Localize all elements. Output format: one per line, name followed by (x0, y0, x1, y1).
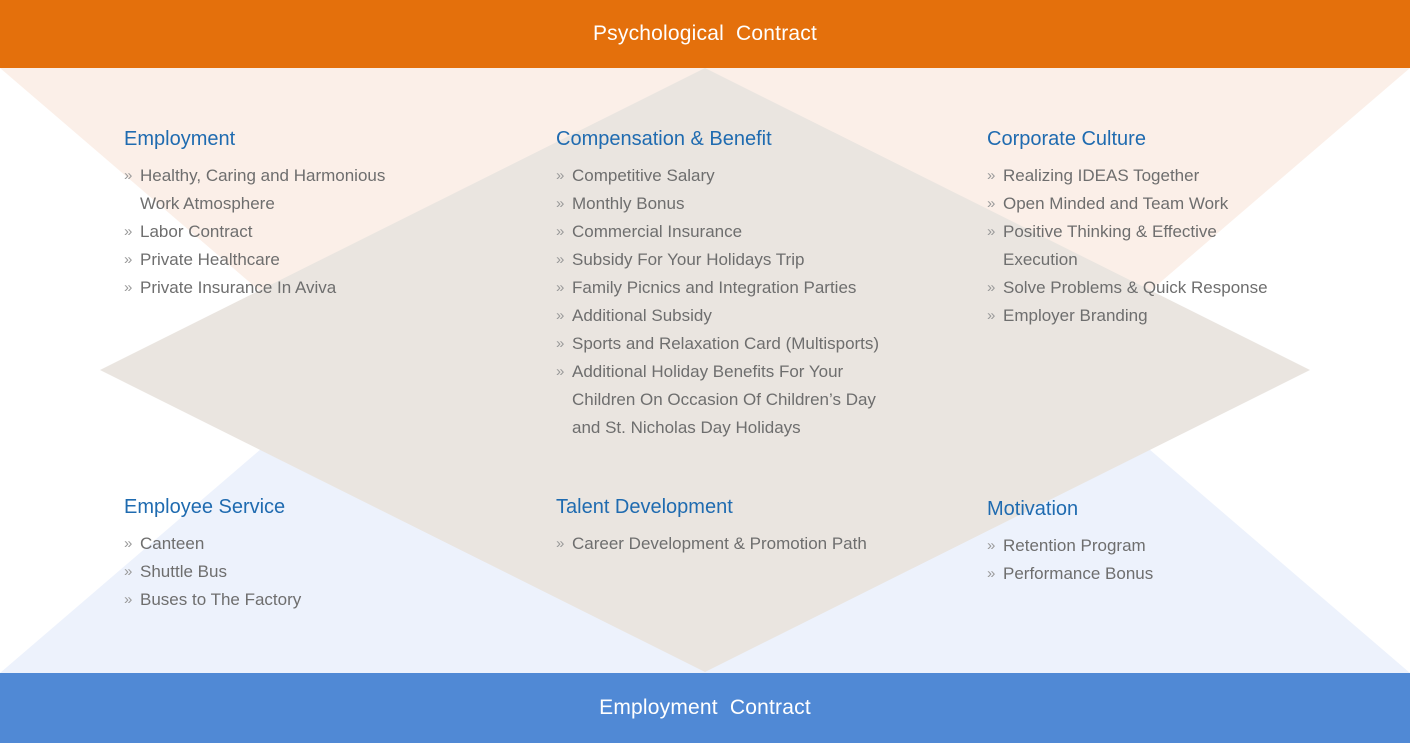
list-item-text: Monthly Bonus (572, 190, 956, 218)
chevron-bullet-icon: » (124, 246, 132, 274)
section-title-employment: Employment (124, 126, 524, 152)
list-item-text: Additional Subsidy (572, 302, 956, 330)
section-title-compensation-benefit: Compensation & Benefit (556, 126, 956, 152)
chevron-bullet-icon: » (124, 218, 132, 246)
footer-bar: Employment Contract (0, 673, 1410, 743)
chevron-bullet-icon: » (556, 274, 564, 302)
section-title-talent-development: Talent Development (556, 494, 956, 520)
section-list-employee-service: » Canteen » Shuttle Bus » Buses to The F… (124, 530, 524, 614)
chevron-bullet-icon: » (987, 302, 995, 330)
list-item: » Additional Subsidy (556, 302, 956, 330)
list-item-text: Private Insurance In Aviva (140, 274, 524, 302)
chevron-bullet-icon: » (987, 190, 995, 218)
list-item-text: Competitive Salary (572, 162, 956, 190)
list-item: » Sports and Relaxation Card (Multisport… (556, 330, 956, 358)
list-item: » Retention Program (987, 532, 1387, 560)
list-item: » Canteen (124, 530, 524, 558)
list-item-text: Healthy, Caring and Harmonious Work Atmo… (140, 162, 524, 218)
list-item-text: Performance Bonus (1003, 560, 1387, 588)
chevron-bullet-icon: » (987, 218, 995, 246)
list-item: » Positive Thinking & Effective Executio… (987, 218, 1387, 274)
list-item: » Career Development & Promotion Path (556, 530, 956, 558)
list-item-text: Employer Branding (1003, 302, 1387, 330)
section-title-motivation: Motivation (987, 496, 1387, 522)
list-item-text: Solve Problems & Quick Response (1003, 274, 1387, 302)
section-compensation-benefit: Compensation & Benefit » Competitive Sal… (556, 126, 956, 442)
chevron-bullet-icon: » (556, 246, 564, 274)
section-title-employee-service: Employee Service (124, 494, 524, 520)
list-item-text: Retention Program (1003, 532, 1387, 560)
section-talent-development: Talent Development » Career Development … (556, 494, 956, 558)
list-item: » Private Insurance In Aviva (124, 274, 524, 302)
chevron-bullet-icon: » (556, 358, 564, 386)
footer-title: Employment Contract (599, 696, 811, 720)
list-item-text: Positive Thinking & Effective Execution (1003, 218, 1387, 274)
list-item: » Competitive Salary (556, 162, 956, 190)
chevron-bullet-icon: » (987, 560, 995, 588)
chevron-bullet-icon: » (124, 530, 132, 558)
list-item-text: Private Healthcare (140, 246, 524, 274)
list-item-text: Buses to The Factory (140, 586, 524, 614)
list-item: » Performance Bonus (987, 560, 1387, 588)
list-item-text: Canteen (140, 530, 524, 558)
section-motivation: Motivation » Retention Program » Perform… (987, 496, 1387, 588)
list-item: » Healthy, Caring and Harmonious Work At… (124, 162, 524, 218)
list-item-text: Commercial Insurance (572, 218, 956, 246)
chevron-bullet-icon: » (124, 558, 132, 586)
section-employee-service: Employee Service » Canteen » Shuttle Bus… (124, 494, 524, 614)
chevron-bullet-icon: » (124, 274, 132, 302)
list-item-text: Shuttle Bus (140, 558, 524, 586)
section-list-talent-development: » Career Development & Promotion Path (556, 530, 956, 558)
header-bar: Psychological Contract (0, 0, 1410, 68)
chevron-bullet-icon: » (556, 302, 564, 330)
list-item-text: Sports and Relaxation Card (Multisports) (572, 330, 956, 358)
list-item: » Employer Branding (987, 302, 1387, 330)
chevron-bullet-icon: » (556, 190, 564, 218)
list-item-text: Labor Contract (140, 218, 524, 246)
list-item-text: Subsidy For Your Holidays Trip (572, 246, 956, 274)
list-item: » Solve Problems & Quick Response (987, 274, 1387, 302)
chevron-bullet-icon: » (987, 274, 995, 302)
list-item: » Additional Holiday Benefits For Your C… (556, 358, 956, 442)
list-item: » Monthly Bonus (556, 190, 956, 218)
chevron-bullet-icon: » (987, 532, 995, 560)
chevron-bullet-icon: » (556, 330, 564, 358)
slide-canvas: Psychological Contract Employment » Heal… (0, 0, 1410, 743)
section-list-corporate-culture: » Realizing IDEAS Together » Open Minded… (987, 162, 1387, 330)
list-item-text: Open Minded and Team Work (1003, 190, 1387, 218)
section-list-motivation: » Retention Program » Performance Bonus (987, 532, 1387, 588)
list-item: » Subsidy For Your Holidays Trip (556, 246, 956, 274)
chevron-bullet-icon: » (556, 218, 564, 246)
section-corporate-culture: Corporate Culture » Realizing IDEAS Toge… (987, 126, 1387, 330)
chevron-bullet-icon: » (124, 586, 132, 614)
chevron-bullet-icon: » (556, 530, 564, 558)
list-item-text: Realizing IDEAS Together (1003, 162, 1387, 190)
section-list-compensation-benefit: » Competitive Salary » Monthly Bonus » C… (556, 162, 956, 442)
list-item: » Buses to The Factory (124, 586, 524, 614)
list-item: » Shuttle Bus (124, 558, 524, 586)
list-item: » Commercial Insurance (556, 218, 956, 246)
header-title: Psychological Contract (593, 22, 817, 46)
list-item-text: Additional Holiday Benefits For Your Chi… (572, 358, 956, 442)
list-item: » Family Picnics and Integration Parties (556, 274, 956, 302)
content-grid: Employment » Healthy, Caring and Harmoni… (0, 68, 1410, 673)
section-title-corporate-culture: Corporate Culture (987, 126, 1387, 152)
chevron-bullet-icon: » (987, 162, 995, 190)
section-employment: Employment » Healthy, Caring and Harmoni… (124, 126, 524, 302)
list-item: » Realizing IDEAS Together (987, 162, 1387, 190)
list-item: » Private Healthcare (124, 246, 524, 274)
list-item: » Labor Contract (124, 218, 524, 246)
list-item-text: Career Development & Promotion Path (572, 530, 956, 558)
list-item: » Open Minded and Team Work (987, 190, 1387, 218)
list-item-text: Family Picnics and Integration Parties (572, 274, 956, 302)
chevron-bullet-icon: » (124, 162, 132, 190)
section-list-employment: » Healthy, Caring and Harmonious Work At… (124, 162, 524, 302)
chevron-bullet-icon: » (556, 162, 564, 190)
